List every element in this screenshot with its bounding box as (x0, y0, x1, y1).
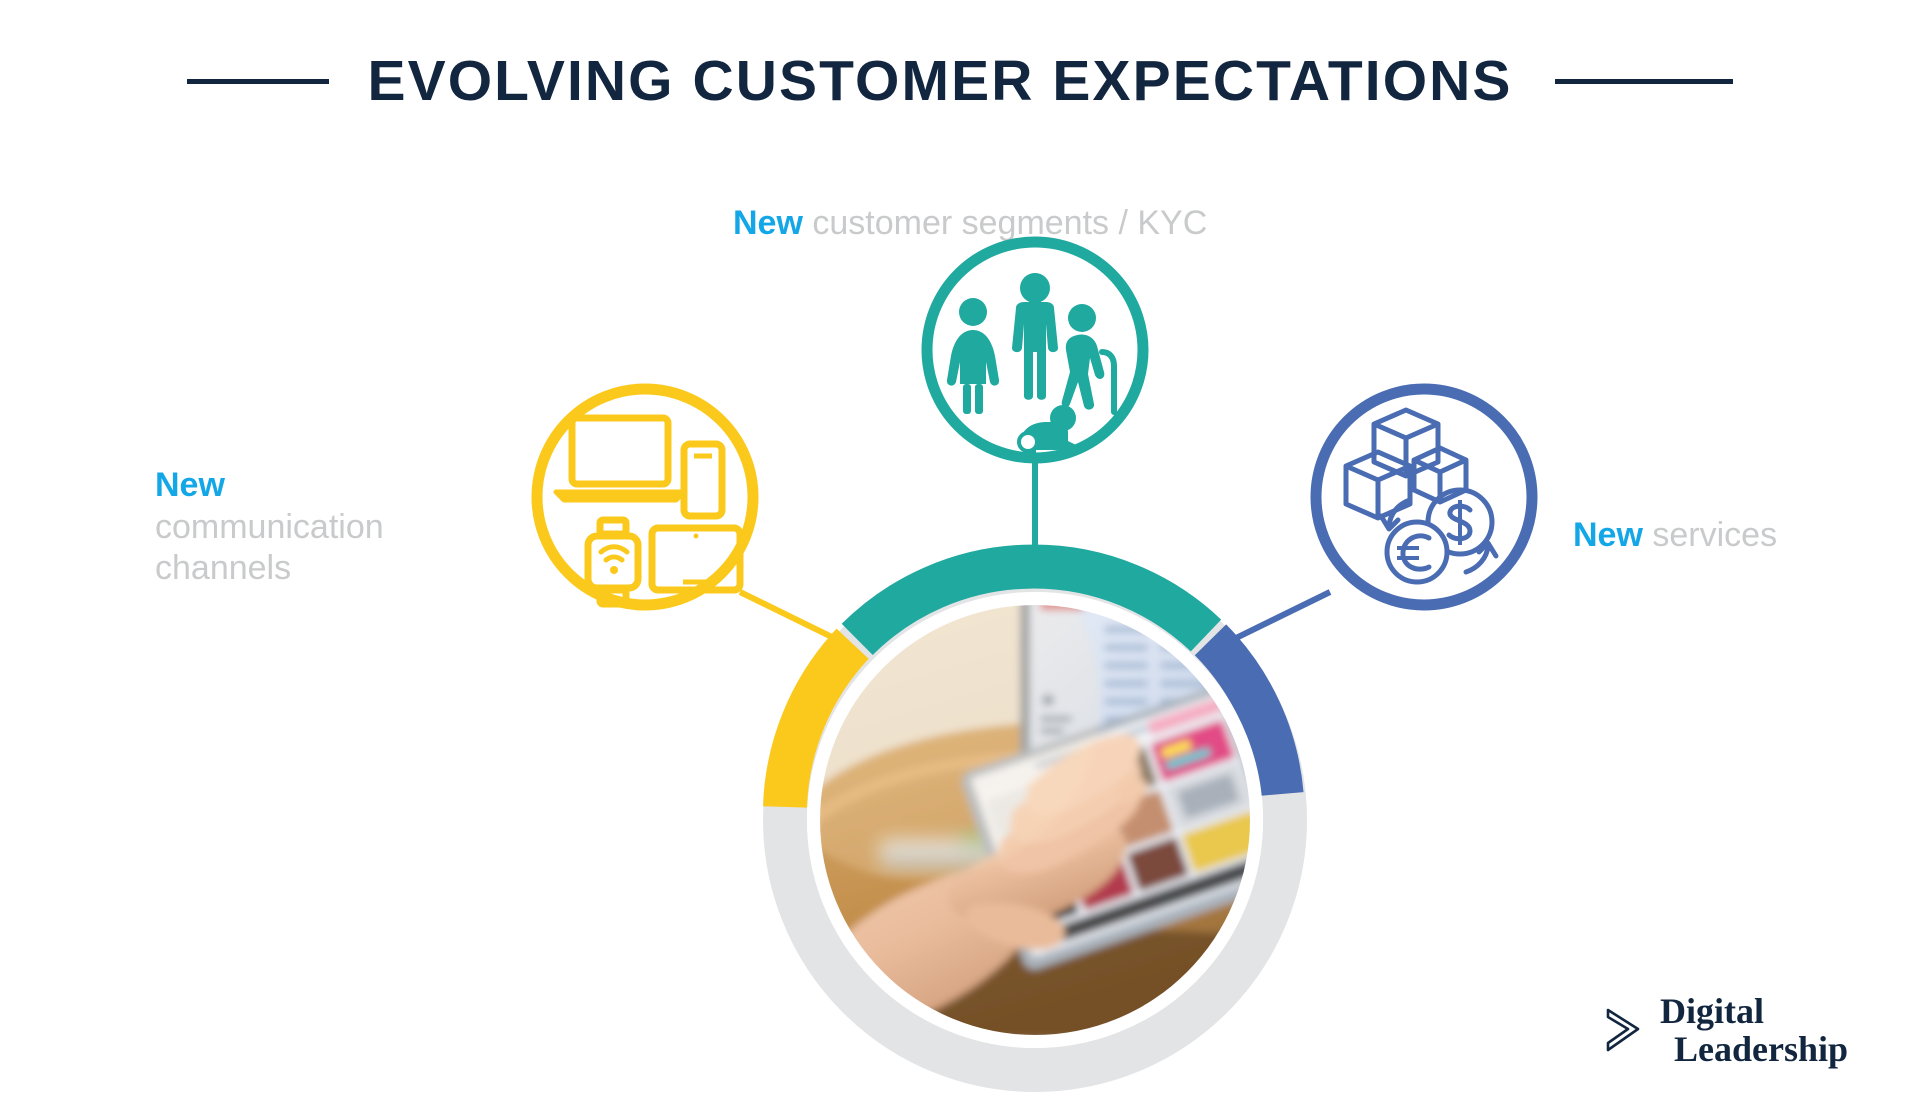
connector-services (1232, 592, 1330, 640)
node-communication-channels (537, 389, 753, 605)
brand-logo-line2: Leadership (1674, 1030, 1848, 1068)
brand-logo-text: Digital Leadership (1660, 992, 1848, 1068)
brand-logo: Digital Leadership (1604, 992, 1848, 1068)
connector-communication-channels (740, 592, 838, 640)
node-customer-segments (927, 242, 1143, 458)
brand-logo-line1: Digital (1660, 991, 1764, 1031)
node-services (1316, 389, 1532, 605)
chevron-mark-icon (1604, 1007, 1644, 1053)
center-photo-ring (740, 520, 1294, 1070)
diagram-canvas (0, 0, 1920, 1120)
